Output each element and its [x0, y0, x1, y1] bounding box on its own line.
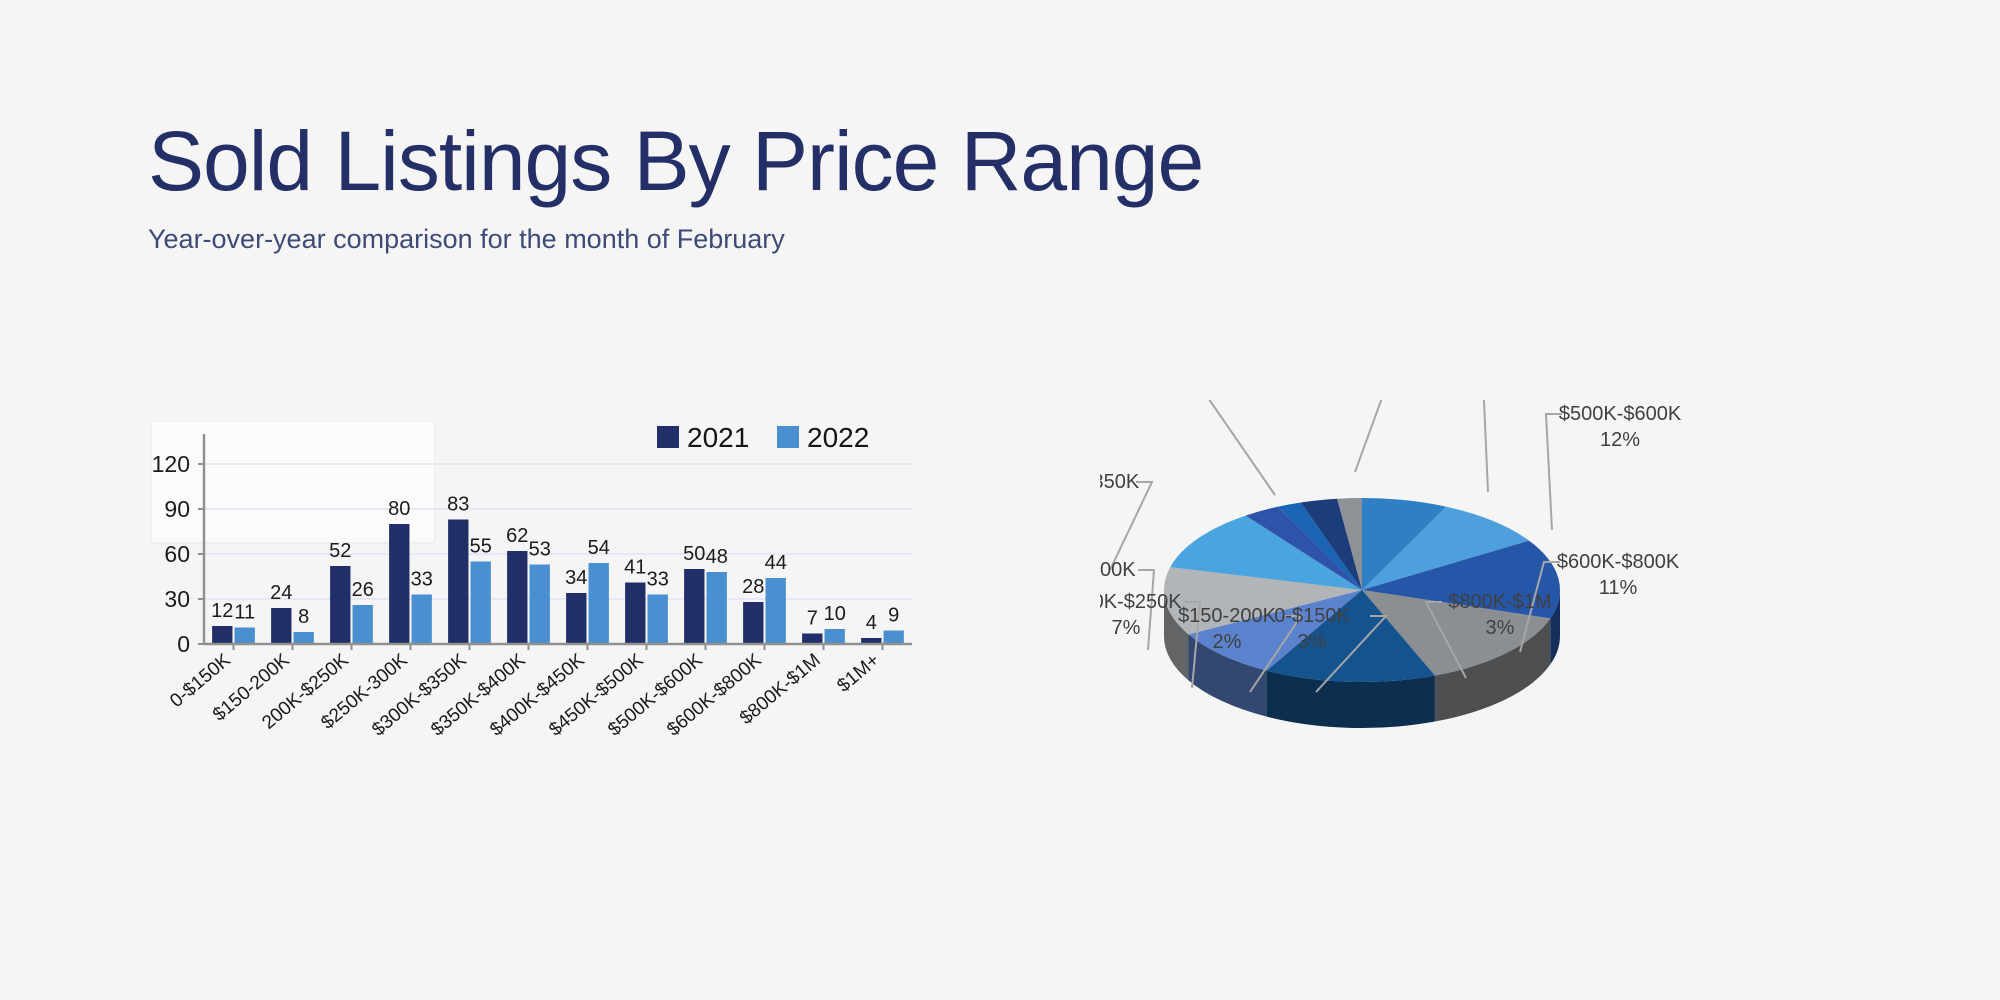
bar-gridlines	[204, 464, 912, 599]
pie-label-percent: 3%	[1486, 617, 1515, 639]
poster-canvas: Sold Listings By Price Range Year-over-y…	[0, 0, 2000, 1000]
y-axis-tick-label: 120	[152, 451, 190, 477]
legend-label-2021: 2021	[687, 422, 749, 453]
bar-value-label: 83	[447, 494, 469, 516]
pie-slice-tops	[1164, 498, 1560, 682]
bar-2021-2	[330, 566, 350, 644]
pie-label-percent: 7%	[1112, 617, 1141, 639]
pie-label-name: $800K-$1M	[1448, 591, 1551, 613]
bar-2021-1	[271, 608, 291, 644]
bar-category-label: $1M+	[833, 650, 883, 697]
bar-value-label: 7	[807, 608, 818, 630]
bar-value-label: 48	[706, 546, 728, 568]
pie-label-percent: 3%	[1298, 631, 1327, 653]
bar-2022-10	[825, 629, 845, 644]
bar-value-label: 50	[683, 543, 705, 565]
legend-swatch-2021	[657, 426, 679, 448]
bar-value-label: 41	[624, 557, 646, 579]
bar-value-label: 34	[565, 567, 587, 589]
bar-value-label: 55	[470, 536, 492, 558]
bar-value-label: 44	[765, 552, 787, 574]
bar-2021-9	[743, 602, 763, 644]
bar-value-label: 80	[388, 498, 410, 520]
pie-label-percent: 11%	[1599, 577, 1638, 599]
pie-label-group: $600K-$800K11%	[1557, 551, 1680, 599]
bar-value-labels: 1211248522680338355625334544133504828447…	[211, 494, 899, 635]
bar-2022-11	[884, 631, 904, 645]
bar-2021-10	[802, 634, 822, 645]
bar-category-labels: 0-$150K$150-200K200K-$250K$250K-300K$300…	[166, 650, 884, 741]
bar-2022-2	[353, 605, 373, 644]
bar-2022-6	[589, 563, 609, 644]
pie-label-percent: 12%	[1600, 429, 1640, 451]
bar-2022-7	[648, 595, 668, 645]
bar-value-label: 4	[866, 612, 877, 634]
bar-2022-4	[471, 562, 491, 645]
bar-value-label: 33	[411, 569, 433, 591]
bar-2022-9	[766, 578, 786, 644]
legend-label-2022: 2022	[807, 422, 869, 453]
y-axis-tick-label: 60	[164, 541, 190, 567]
bar-2021-0	[212, 626, 232, 644]
pie-label-name: $300K-$350K	[1100, 471, 1140, 493]
pie-label-name: $500K-$600K	[1559, 403, 1682, 425]
bar-2022-0	[235, 628, 255, 645]
pie-leader-line	[1546, 414, 1562, 530]
pie-leader-line	[1148, 400, 1275, 495]
pie-label-name: 0-$150K	[1274, 605, 1350, 627]
bar-2021-4	[448, 520, 468, 645]
bar-2022-1	[294, 632, 314, 644]
y-axis-tick-label: 90	[164, 496, 190, 522]
pie-label-name: $150-200K	[1178, 605, 1277, 627]
legend-swatch-2022	[777, 426, 799, 448]
bar-value-label: 12	[211, 600, 233, 622]
bar-value-label: 10	[824, 603, 846, 625]
bar-value-label: 52	[329, 540, 351, 562]
bar-2022-5	[530, 565, 550, 645]
header: Sold Listings By Price Range Year-over-y…	[148, 120, 1448, 255]
bar-chart: 0306090120 12112485226803383556253345441…	[152, 422, 1092, 852]
bar-2022-3	[412, 595, 432, 645]
y-axis-tick-label: 30	[164, 586, 190, 612]
pie-label-percent: 2%	[1213, 631, 1242, 653]
pie-label-name: 200K-$250K	[1100, 591, 1182, 613]
page-subtitle: Year-over-year comparison for the month …	[148, 224, 1448, 255]
pie-label-group: $500K-$600K12%	[1559, 403, 1682, 451]
bar-2021-5	[507, 551, 527, 644]
bar-value-label: 8	[298, 606, 309, 628]
bar-value-label: 24	[270, 582, 292, 604]
pie-chart-svg: 0-$150K3%$150-200K2%200K-$250K7%$250K-30…	[1100, 400, 1980, 880]
bar-chart-svg: 0306090120 12112485226803383556253345441…	[152, 422, 1092, 852]
bar-2021-3	[389, 524, 409, 644]
bar-value-label: 28	[742, 576, 764, 598]
bar-2022-8	[707, 572, 727, 644]
pie-chart: 0-$150K3%$150-200K2%200K-$250K7%$250K-30…	[1100, 400, 1980, 880]
bar-2021-8	[684, 569, 704, 644]
bar-value-label: 11	[234, 602, 255, 624]
bar-legend: 20212022	[657, 422, 869, 453]
bar-value-label: 54	[588, 537, 610, 559]
bar-value-label: 53	[529, 539, 551, 561]
bar-series-group	[212, 520, 904, 645]
bar-2021-7	[625, 583, 645, 645]
bar-value-label: 9	[888, 605, 899, 627]
pie-leader-line	[1355, 400, 1406, 472]
bar-value-label: 62	[506, 525, 528, 547]
page-title: Sold Listings By Price Range	[148, 120, 1448, 202]
pie-leader-line	[1110, 482, 1152, 570]
bar-2021-6	[566, 593, 586, 644]
bar-value-label: 26	[352, 579, 374, 601]
pie-leader-line	[1481, 400, 1497, 492]
pie-label-name: $600K-$800K	[1557, 551, 1680, 573]
pie-label-group: $300K-$350K14%	[1100, 471, 1140, 519]
pie-label-name: $250K-300K	[1100, 559, 1136, 581]
y-axis-tick-label: 0	[177, 631, 190, 657]
bar-value-label: 33	[647, 569, 669, 591]
